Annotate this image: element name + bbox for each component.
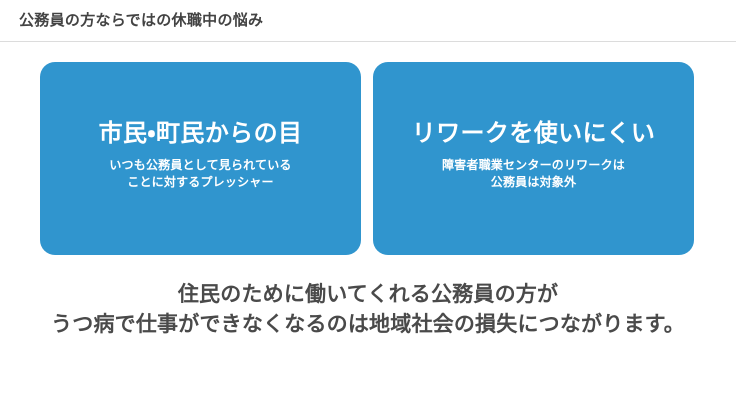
card-title: 市民・町民からの目 [99, 120, 303, 148]
footer-message: 住民のために働いてくれる公務員の方が うつ病で仕事ができなくなるのは地域社会の損… [0, 280, 736, 340]
card-subtitle-line: 障害者職業センターのリワークは [442, 157, 625, 174]
footer-message-line: うつ病で仕事ができなくなるのは地域社会の損失につながります。 [0, 310, 736, 340]
card-row: 市民・町民からの目 いつも公務員として見られている ことに対するプレッシャー リ… [40, 62, 694, 255]
card-subtitle-line: 公務員は対象外 [442, 174, 625, 191]
card-subtitle: 障害者職業センターのリワークは 公務員は対象外 [442, 157, 625, 192]
page-title: 公務員の方ならではの休職中の悩み [19, 13, 263, 28]
slide-header: 公務員の方ならではの休職中の悩み [0, 0, 736, 42]
card-subtitle-line: ことに対するプレッシャー [109, 174, 291, 191]
slide-root: { "header": { "title": "公務員の方ならではの休職中の悩み… [0, 0, 736, 414]
footer-message-line: 住民のために働いてくれる公務員の方が [0, 280, 736, 310]
card-subtitle: いつも公務員として見られている ことに対するプレッシャー [109, 157, 291, 192]
card-citizen-gaze: 市民・町民からの目 いつも公務員として見られている ことに対するプレッシャー [40, 62, 361, 255]
card-subtitle-line: いつも公務員として見られている [109, 157, 291, 174]
card-rework-difficult: リワークを使いにくい 障害者職業センターのリワークは 公務員は対象外 [373, 62, 694, 255]
card-title: リワークを使いにくい [412, 120, 656, 148]
